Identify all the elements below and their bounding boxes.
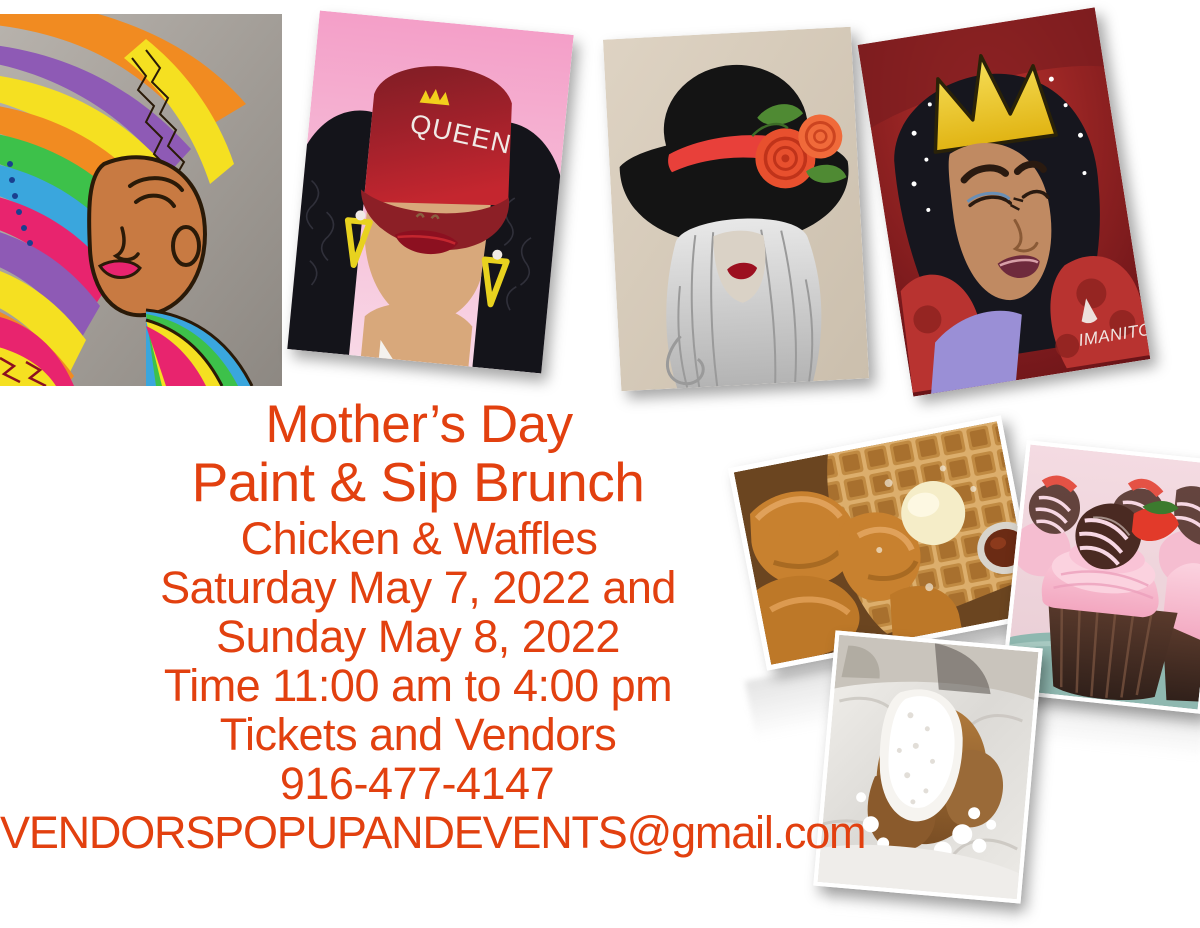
- contact-phone[interactable]: 916-477-4147: [0, 761, 830, 806]
- event-time: Time 11:00 am to 4:00 pm: [0, 663, 830, 708]
- beignets-art: [818, 635, 1039, 899]
- contact-email[interactable]: VENDORSPOPUPANDEVENTS@gmail.com: [0, 810, 830, 855]
- powdered-sugar-beignets-photo: [813, 630, 1043, 903]
- menu-chicken-waffles: Chicken & Waffles: [0, 516, 830, 561]
- rainbow-headwrap-art: [0, 14, 282, 386]
- event-text-block: Mother’s Day Paint & Sip Brunch Chicken …: [0, 398, 830, 855]
- rainbow-headwrap-painting: [0, 14, 282, 386]
- date-line-sunday: Sunday May 8, 2022: [0, 614, 830, 659]
- black-hat-roses-painting: [603, 27, 869, 391]
- queen-cap-painting: QUEEN: [287, 11, 573, 374]
- gold-crown-art: IMANITO: [858, 7, 1151, 396]
- headline-mothers-day: Mother’s Day: [0, 398, 830, 451]
- headline-paint-sip: Paint & Sip Brunch: [0, 455, 830, 510]
- queen-cap-art: QUEEN: [287, 11, 573, 374]
- gold-crown-painting: IMANITO: [858, 7, 1151, 396]
- date-line-saturday: Saturday May 7, 2022 and: [0, 565, 830, 610]
- black-hat-roses-art: [603, 27, 869, 391]
- flyer-canvas: QUEEN: [0, 0, 1200, 927]
- tickets-and-vendors: Tickets and Vendors: [0, 712, 830, 757]
